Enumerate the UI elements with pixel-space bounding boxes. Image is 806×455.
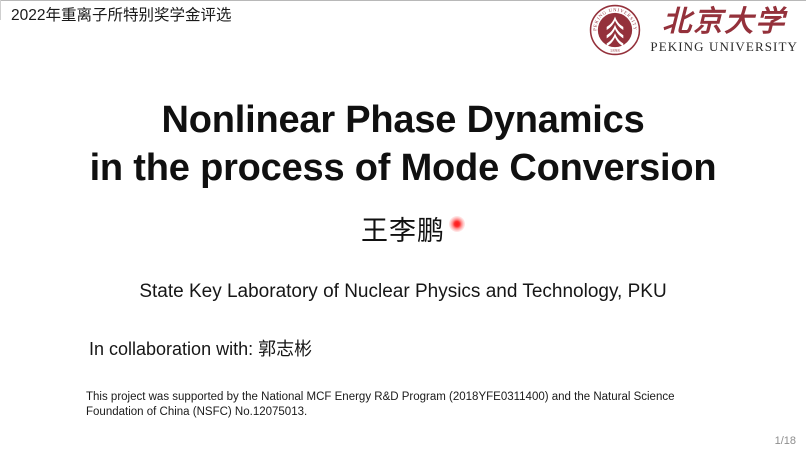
author-name-text: 王李鹏 [361,216,445,246]
slide-top-border [0,0,806,1]
laser-pointer-dot [449,216,465,232]
author-name: 王李鹏 [361,214,445,248]
author-block: 王李鹏 [0,214,806,248]
pku-logo: PEKING UNIVERSITY 1898 北京大学 PEKING UNIVE… [589,4,798,56]
event-header-title: 2022年重离子所特别奖学金评选 [11,6,231,26]
page-indicator: 1/18 [775,434,796,448]
slide-left-border [0,0,1,20]
pku-english-name: PEKING UNIVERSITY [650,39,798,54]
presentation-slide: 2022年重离子所特别奖学金评选 PEKING UNIVERSITY 1898 … [0,0,806,455]
slide-title: Nonlinear Phase Dynamics in the process … [0,96,806,192]
pku-chinese-name: 北京大学 [662,6,786,38]
collaboration-line: In collaboration with: 郭志彬 [89,337,312,362]
pku-seal-icon: PEKING UNIVERSITY 1898 [589,4,641,56]
author-affiliation: State Key Laboratory of Nuclear Physics … [0,279,806,305]
title-line-2: in the process of Mode Conversion [0,144,806,192]
svg-text:1898: 1898 [610,48,620,53]
pku-wordmark: 北京大学 PEKING UNIVERSITY [650,6,798,55]
funding-acknowledgement: This project was supported by the Nation… [86,390,726,420]
title-line-1: Nonlinear Phase Dynamics [0,96,806,144]
